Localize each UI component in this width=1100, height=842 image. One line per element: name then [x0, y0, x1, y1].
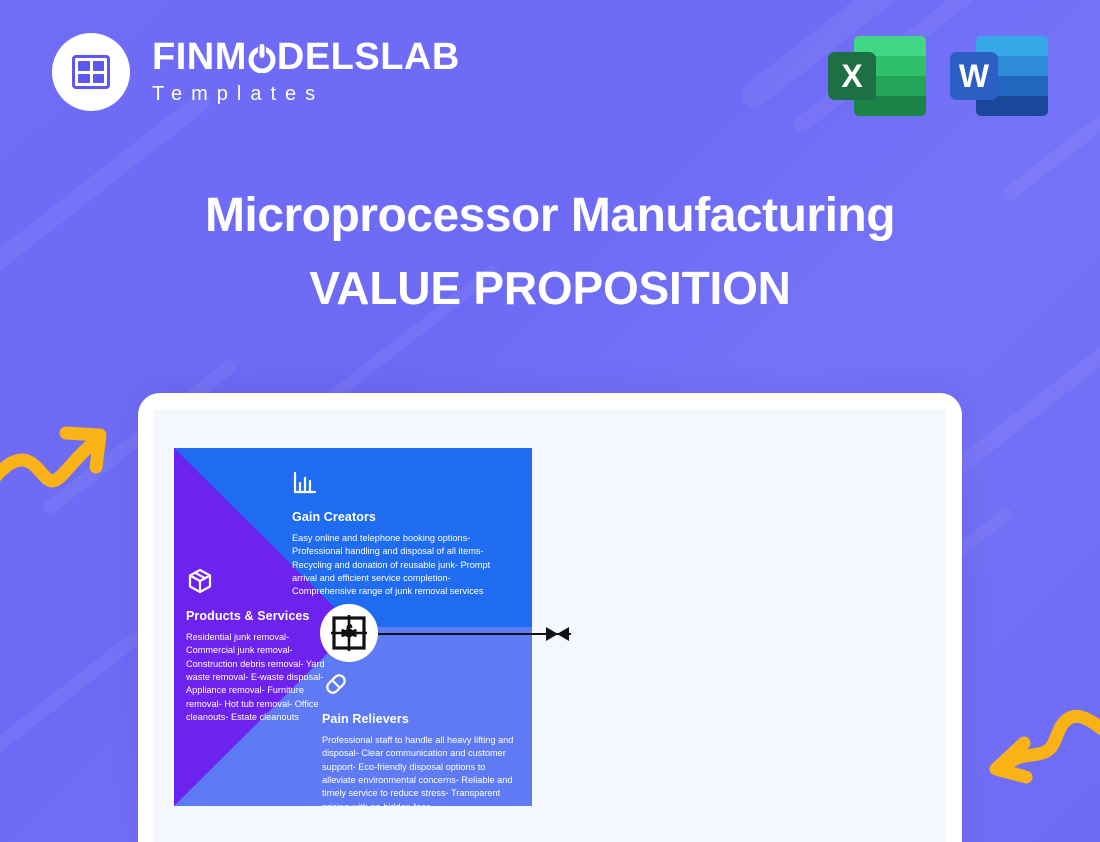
block-products-services[interactable]: Products & Services Residential junk rem… — [186, 567, 334, 724]
logo-text: FINM DELSLAB Templates — [152, 38, 460, 106]
logo-main-part1: FINM — [152, 38, 247, 76]
word-icon-letter: W — [959, 58, 989, 95]
excel-icon[interactable]: X — [828, 30, 926, 118]
block-pain-relievers[interactable]: Pain Relievers Professional staff to han… — [322, 670, 518, 806]
logo-subtitle: Templates — [152, 83, 460, 106]
slide-canvas: Gain Creators Easy online and telephone … — [154, 410, 946, 842]
header: FINM DELSLAB Templates — [0, 0, 1100, 150]
power-icon — [247, 42, 277, 72]
brand-logo[interactable]: FINM DELSLAB Templates — [52, 33, 460, 111]
gift-box-icon — [320, 604, 378, 662]
bar-chart-icon — [292, 470, 514, 501]
block-heading: Products & Services — [186, 609, 334, 623]
device-frame: Gain Creators Easy online and telephone … — [138, 393, 962, 842]
block-body: Residential junk removal- Commercial jun… — [186, 631, 334, 724]
box-3d-icon — [186, 567, 334, 600]
block-heading: Gain Creators — [292, 510, 514, 524]
logo-badge — [52, 33, 130, 111]
word-icon-tile: W — [950, 52, 998, 100]
brush-stroke-6 — [953, 302, 1100, 475]
logo-main-part2: DELSLAB — [277, 38, 460, 76]
grid-squares-icon — [72, 55, 110, 89]
brush-stroke-8 — [0, 630, 143, 764]
block-body: Professional staff to handle all heavy l… — [322, 734, 518, 806]
page-title: Microprocessor Manufacturing VALUE PROPO… — [0, 190, 1100, 315]
connector-arrowhead-left — [557, 627, 569, 641]
logo-main: FINM DELSLAB — [152, 38, 460, 76]
squiggly-arrow-up-right — [0, 405, 118, 510]
squiggly-arrow-down-left — [976, 709, 1100, 804]
title-line-1: Microprocessor Manufacturing — [0, 190, 1100, 243]
word-icon[interactable]: W — [950, 30, 1048, 118]
title-line-2: VALUE PROPOSITION — [0, 261, 1100, 315]
office-icons: X W — [828, 30, 1048, 118]
pill-capsule-icon — [322, 670, 518, 703]
excel-icon-tile: X — [828, 52, 876, 100]
block-heading: Pain Relievers — [322, 712, 518, 726]
connector-line — [356, 633, 571, 635]
poster-canvas: FINM DELSLAB Templates — [0, 0, 1100, 842]
excel-icon-letter: X — [841, 58, 862, 95]
